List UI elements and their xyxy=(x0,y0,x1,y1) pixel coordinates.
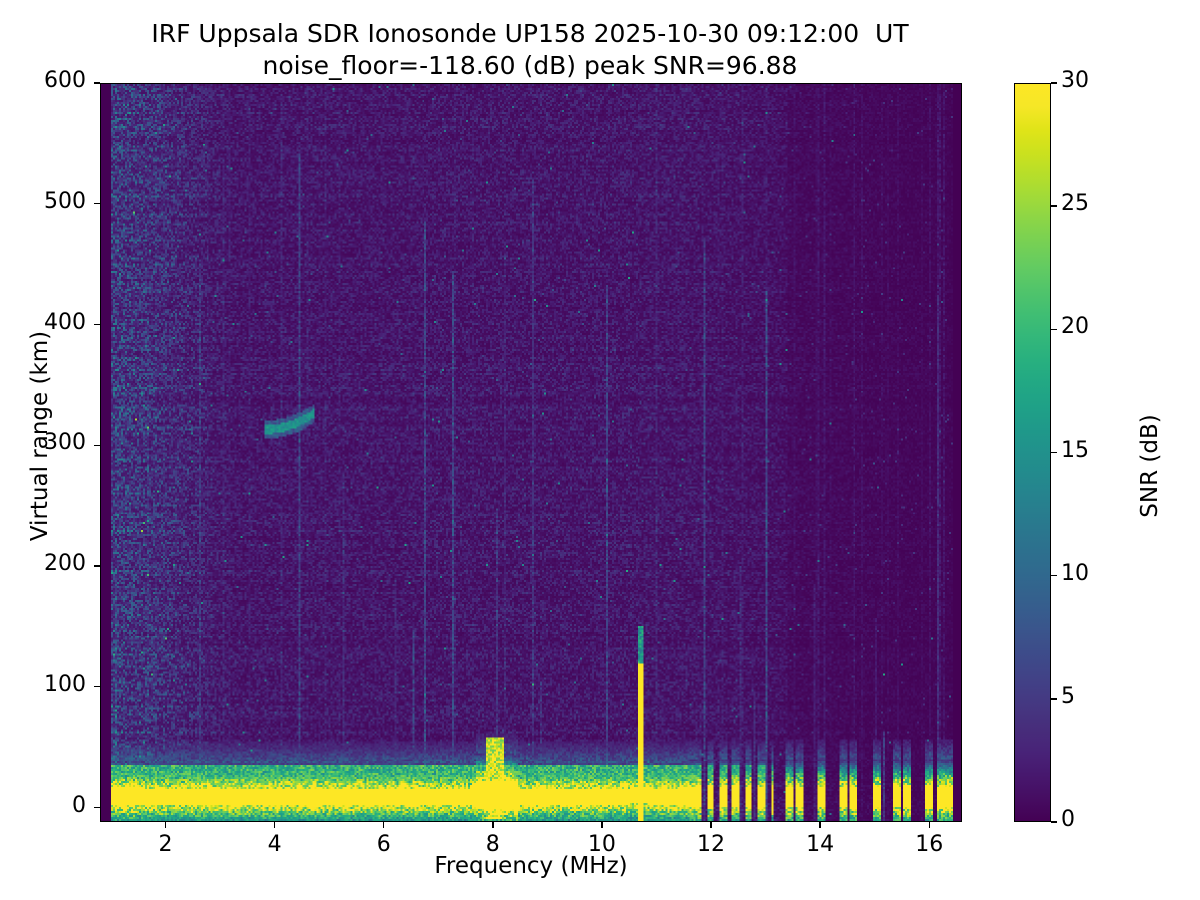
title-line-2: noise_floor=-118.60 (dB) peak SNR=96.88 xyxy=(0,50,1060,82)
y-tick-mark xyxy=(94,445,100,446)
y-tick-label: 100 xyxy=(6,672,86,697)
colorbar-tick-label: 15 xyxy=(1061,438,1089,463)
x-tick-mark xyxy=(929,822,930,828)
x-tick-mark xyxy=(165,822,166,828)
colorbar-tick-label: 25 xyxy=(1061,191,1089,216)
x-tick-mark xyxy=(274,822,275,828)
y-tick-mark xyxy=(94,686,100,687)
y-axis-label: Virtual range (km) xyxy=(27,266,53,606)
x-tick-mark xyxy=(819,822,820,828)
colorbar-tick-label: 20 xyxy=(1061,314,1089,339)
colorbar-label: SNR (dB) xyxy=(1137,316,1163,616)
colorbar-tick-mark xyxy=(1051,698,1057,699)
y-tick-label: 600 xyxy=(6,68,86,93)
y-tick-mark xyxy=(94,324,100,325)
colorbar-tick-mark xyxy=(1051,329,1057,330)
colorbar-tick-mark xyxy=(1051,452,1057,453)
y-tick-mark xyxy=(94,203,100,204)
colorbar xyxy=(1014,83,1051,822)
ionogram-plot-area xyxy=(100,83,962,822)
colorbar-tick-label: 10 xyxy=(1061,561,1089,586)
y-tick-label: 0 xyxy=(6,793,86,818)
title-line-1: IRF Uppsala SDR Ionosonde UP158 2025-10-… xyxy=(0,18,1060,50)
colorbar-tick-mark xyxy=(1051,205,1057,206)
y-tick-mark xyxy=(94,82,100,83)
colorbar-gradient xyxy=(1015,84,1050,821)
colorbar-tick-mark xyxy=(1051,82,1057,83)
x-tick-mark xyxy=(710,822,711,828)
colorbar-tick-mark xyxy=(1051,821,1057,822)
figure-title: IRF Uppsala SDR Ionosonde UP158 2025-10-… xyxy=(0,18,1060,82)
x-tick-mark xyxy=(383,822,384,828)
x-tick-mark xyxy=(601,822,602,828)
colorbar-tick-label: 5 xyxy=(1061,684,1075,709)
ionogram-figure: IRF Uppsala SDR Ionosonde UP158 2025-10-… xyxy=(0,0,1200,900)
ionogram-heatmap xyxy=(101,84,961,821)
colorbar-tick-label: 30 xyxy=(1061,68,1089,93)
x-tick-mark xyxy=(492,822,493,828)
colorbar-tick-mark xyxy=(1051,575,1057,576)
x-axis-label: Frequency (MHz) xyxy=(100,853,962,879)
y-tick-mark xyxy=(94,565,100,566)
colorbar-tick-label: 0 xyxy=(1061,807,1075,832)
y-tick-mark xyxy=(94,807,100,808)
y-tick-label: 500 xyxy=(6,189,86,214)
